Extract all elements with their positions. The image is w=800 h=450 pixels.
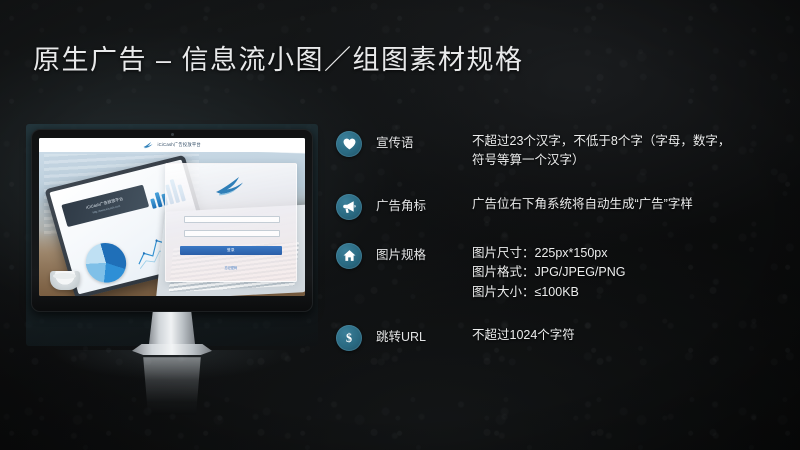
spec-value-line: 广告位右下角系统将自动生成“广告”字样 (472, 195, 788, 214)
login-brand-bird-icon (214, 176, 248, 196)
login-password-field[interactable] (184, 230, 280, 237)
spec-label: 跳转URL (376, 324, 472, 346)
monitor-stand-neck (149, 312, 195, 344)
heart-icon (336, 131, 362, 157)
spec-value-line: 图片大小：≤100KB (472, 283, 788, 302)
site-header-bar: iCiCash广告投放平台 (39, 138, 305, 152)
spec-value: 不超过1024个字符 (472, 324, 788, 345)
monitor-device: iCiCash广告投放平台 iCiCash广告投放平台 http://www.i… (31, 129, 313, 312)
product-visual: iCiCash广告投放平台 iCiCash广告投放平台 http://www.i… (22, 112, 322, 432)
spec-value-line: 图片格式：JPG/JPEG/PNG (472, 263, 788, 282)
spec-label: 广告角标 (376, 193, 472, 215)
tablet-banner: iCiCash广告投放平台 http://www.icicash.com (61, 184, 149, 227)
spec-label: 图片规格 (376, 242, 472, 264)
login-username-field[interactable] (184, 216, 280, 223)
home-icon (336, 243, 362, 269)
spec-value: 广告位右下角系统将自动生成“广告”字样 (472, 193, 788, 214)
forgot-password-link[interactable]: 忘记密码 (166, 265, 296, 270)
spec-list: 宣传语 不超过23个汉字，不低于8个字（字母，数字， 符号等算一个汉字） 广告角… (336, 130, 788, 351)
spec-row-ad-badge: 广告角标 广告位右下角系统将自动生成“广告”字样 (336, 193, 788, 220)
dollar-icon: $ (336, 325, 362, 351)
spec-label: 宣传语 (376, 130, 472, 152)
brand-text: iCiCash广告投放平台 (157, 142, 200, 148)
home-glyph (343, 249, 356, 262)
spec-value-line: 符号等算一个汉字） (472, 151, 788, 170)
page-title: 原生广告 – 信息流小图／组图素材规格 (33, 38, 524, 77)
coffee-cup (50, 271, 80, 290)
webcam-icon (171, 133, 174, 136)
spec-value-line: 不超过23个汉字，不低于8个字（字母，数字， (472, 132, 788, 151)
monitor-screen: iCiCash广告投放平台 iCiCash广告投放平台 http://www.i… (39, 138, 305, 296)
monitor-stand-foot (132, 344, 212, 355)
brand-bird-icon (143, 141, 154, 149)
spec-value-line: 图片尺寸：225px*150px (472, 244, 788, 263)
spec-row-slogan: 宣传语 不超过23个汉字，不低于8个字（字母，数字， 符号等算一个汉字） (336, 130, 788, 171)
login-panel: 登录 忘记密码 (165, 163, 297, 282)
dollar-glyph: $ (343, 331, 355, 345)
megaphone-icon (336, 194, 362, 220)
login-submit-button[interactable]: 登录 (180, 246, 282, 255)
heart-glyph (343, 138, 356, 150)
pie-chart-graphic (80, 238, 130, 286)
spec-row-landing-url: $ 跳转URL 不超过1024个字符 (336, 324, 788, 351)
megaphone-glyph (342, 200, 356, 213)
spec-value-line: 不超过1024个字符 (472, 326, 788, 345)
spec-value: 图片尺寸：225px*150px 图片格式：JPG/JPEG/PNG 图片大小：… (472, 242, 788, 302)
slide-canvas: 原生广告 – 信息流小图／组图素材规格 iCiCash广告投放平台 (0, 0, 800, 450)
svg-text:$: $ (346, 331, 352, 345)
spec-row-image-spec: 图片规格 图片尺寸：225px*150px 图片格式：JPG/JPEG/PNG … (336, 242, 788, 302)
spec-value: 不超过23个汉字，不低于8个字（字母，数字， 符号等算一个汉字） (472, 130, 788, 171)
